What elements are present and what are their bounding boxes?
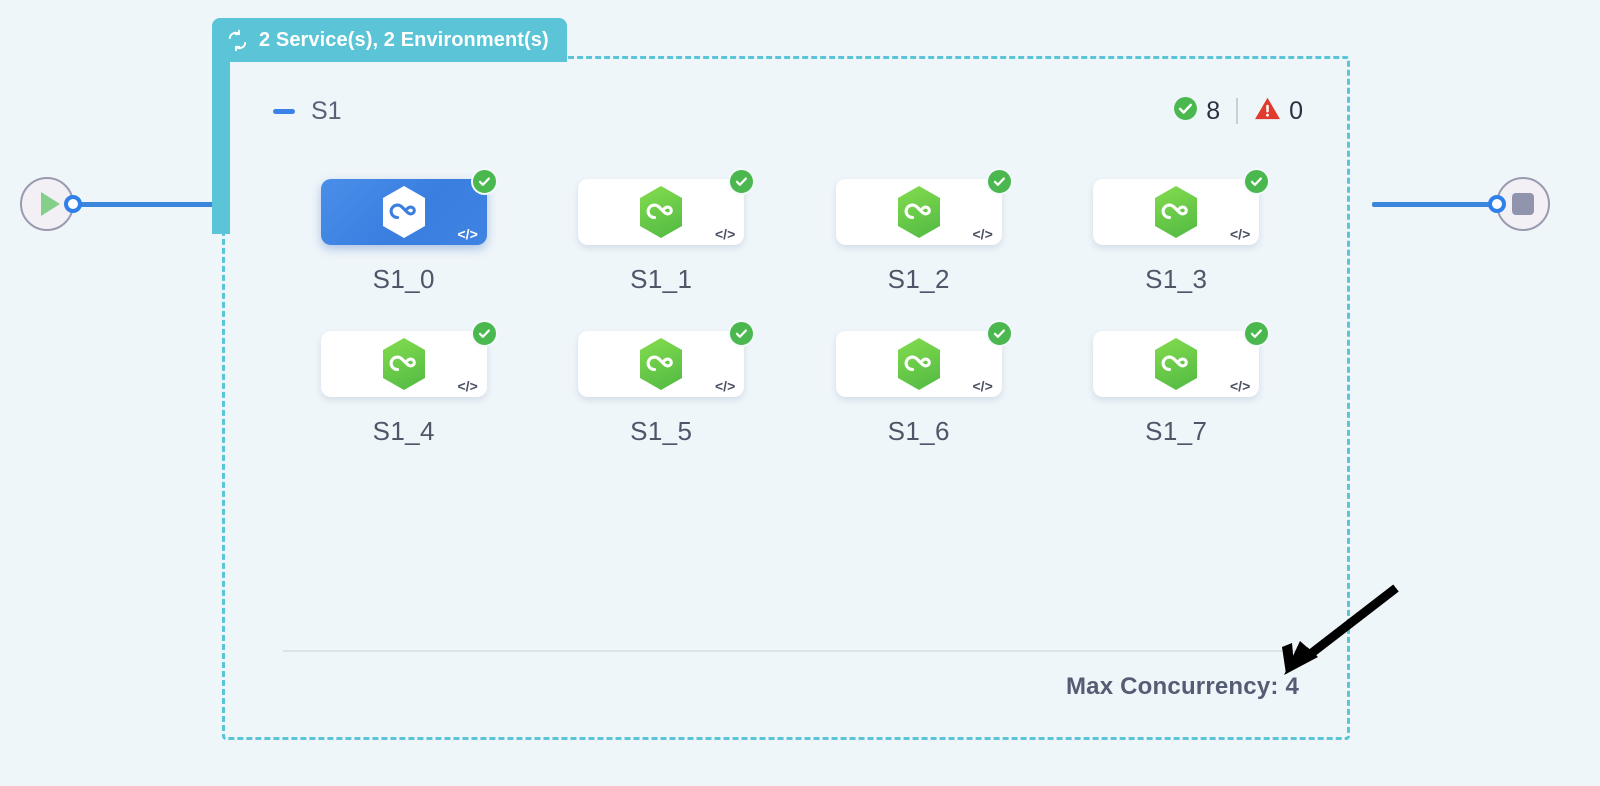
node-cell: </> S1_3 xyxy=(1048,179,1306,295)
node-s1-6[interactable]: </> xyxy=(836,331,1002,397)
node-cell: </> S1_2 xyxy=(790,179,1048,295)
node-cell: </> S1_4 xyxy=(275,331,533,447)
node-s1-4[interactable]: </> xyxy=(321,331,487,397)
footer-divider xyxy=(283,650,1299,652)
group-container: S1 8 xyxy=(222,56,1350,740)
check-circle-icon xyxy=(471,320,498,347)
group-header: S1 8 xyxy=(273,95,1303,127)
hexagon-infinity-icon xyxy=(894,336,944,392)
loop-arrows-icon xyxy=(226,29,249,52)
error-count: 0 xyxy=(1289,97,1303,126)
check-circle-icon xyxy=(986,168,1013,195)
max-concurrency-label: Max Concurrency: 4 xyxy=(1066,673,1299,701)
hexagon-infinity-icon xyxy=(379,336,429,392)
hexagon-infinity-icon xyxy=(636,336,686,392)
check-circle-icon xyxy=(1243,168,1270,195)
node-row: </> S1_0 xyxy=(275,179,1305,295)
node-label: S1_6 xyxy=(888,416,950,447)
node-s1-1[interactable]: </> xyxy=(578,179,744,245)
edge-group-to-end xyxy=(1372,202,1502,207)
node-cell: </> S1_5 xyxy=(533,331,791,447)
node-cell: </> S1_1 xyxy=(533,179,791,295)
code-badge: </> xyxy=(973,379,993,393)
node-label: S1_2 xyxy=(888,264,950,295)
node-label: S1_5 xyxy=(630,416,692,447)
status-divider xyxy=(1236,98,1238,124)
node-row: </> S1_4 xyxy=(275,331,1305,447)
minus-icon[interactable] xyxy=(273,109,295,114)
node-cell: </> S1_7 xyxy=(1048,331,1306,447)
stop-icon xyxy=(1512,193,1534,215)
node-label: S1_7 xyxy=(1145,416,1207,447)
hexagon-infinity-icon xyxy=(1151,336,1201,392)
node-card[interactable]: </> xyxy=(1093,179,1259,245)
check-circle-icon xyxy=(1173,96,1198,126)
end-node-port[interactable] xyxy=(1488,195,1506,213)
hexagon-infinity-icon xyxy=(379,184,429,240)
check-circle-icon xyxy=(986,320,1013,347)
code-badge: </> xyxy=(973,227,993,241)
node-s1-5[interactable]: </> xyxy=(578,331,744,397)
node-s1-2[interactable]: </> xyxy=(836,179,1002,245)
node-card[interactable]: </> xyxy=(321,331,487,397)
code-badge: </> xyxy=(715,227,735,241)
node-s1-3[interactable]: </> xyxy=(1093,179,1259,245)
code-badge: </> xyxy=(1230,227,1250,241)
node-card[interactable]: </> xyxy=(836,179,1002,245)
hexagon-infinity-icon xyxy=(1151,184,1201,240)
success-status: 8 xyxy=(1173,96,1220,126)
node-card[interactable]: </> xyxy=(1093,331,1259,397)
code-badge: </> xyxy=(715,379,735,393)
hexagon-infinity-icon xyxy=(636,184,686,240)
node-label: S1_3 xyxy=(1145,264,1207,295)
check-circle-icon xyxy=(728,168,755,195)
group-badge[interactable]: 2 Service(s), 2 Environment(s) xyxy=(212,18,567,62)
error-status: 0 xyxy=(1254,96,1303,126)
node-grid: </> S1_0 xyxy=(275,179,1305,483)
workflow-canvas: 2 Service(s), 2 Environment(s) S1 8 xyxy=(0,0,1600,786)
code-badge: </> xyxy=(1230,379,1250,393)
group-title: S1 xyxy=(311,97,342,126)
code-badge: </> xyxy=(458,379,478,393)
check-circle-icon xyxy=(471,168,498,195)
status-summary: 8 0 xyxy=(1173,96,1303,126)
group-badge-label: 2 Service(s), 2 Environment(s) xyxy=(259,29,549,52)
node-s1-0[interactable]: </> xyxy=(321,179,487,245)
edge-start-to-group xyxy=(72,202,224,207)
node-label: S1_4 xyxy=(373,416,435,447)
group-rail xyxy=(212,56,230,234)
node-card[interactable]: </> xyxy=(578,179,744,245)
node-card[interactable]: </> xyxy=(836,331,1002,397)
node-label: S1_1 xyxy=(630,264,692,295)
check-circle-icon xyxy=(1243,320,1270,347)
node-card[interactable]: </> xyxy=(578,331,744,397)
code-badge: </> xyxy=(458,227,478,241)
warning-triangle-icon xyxy=(1254,96,1281,126)
hexagon-infinity-icon xyxy=(894,184,944,240)
node-card[interactable]: </> xyxy=(321,179,487,245)
play-icon xyxy=(41,192,60,216)
check-circle-icon xyxy=(728,320,755,347)
node-cell: </> S1_6 xyxy=(790,331,1048,447)
start-node-port[interactable] xyxy=(64,195,82,213)
success-count: 8 xyxy=(1206,97,1220,126)
node-label: S1_0 xyxy=(373,264,435,295)
node-s1-7[interactable]: </> xyxy=(1093,331,1259,397)
node-cell: </> S1_0 xyxy=(275,179,533,295)
